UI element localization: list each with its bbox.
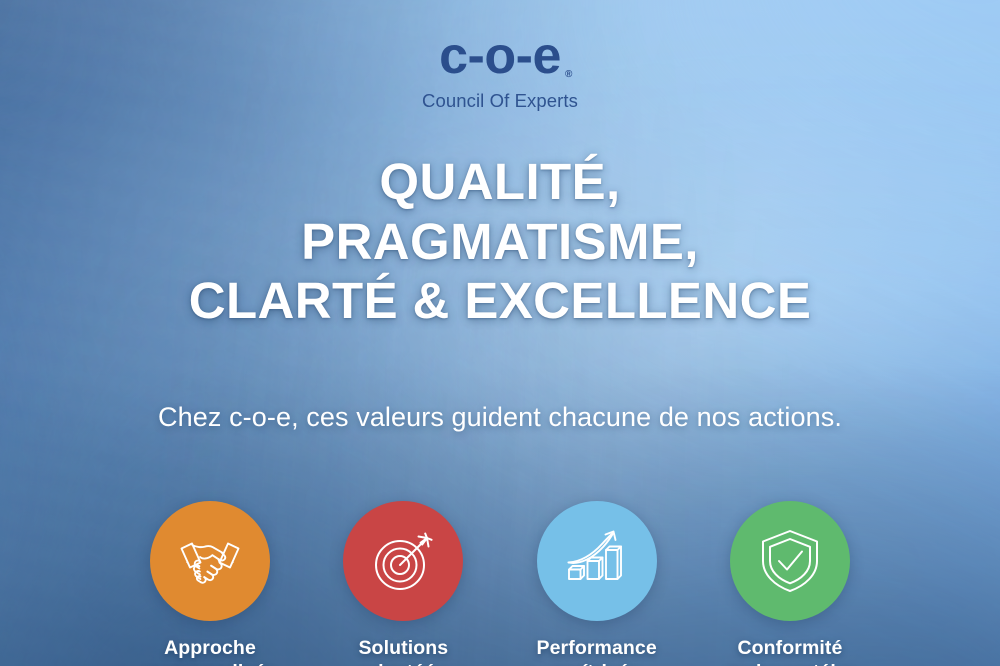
pillar-label-line-2: reglementáire [725, 661, 854, 666]
headline-line-1: QUALITÉ, [189, 152, 811, 212]
pillar-performance-maitrisee[interactable]: Performance maítrisée [507, 501, 687, 666]
pillar-label-line-2: personnalisée [144, 661, 276, 666]
shield-check-icon [755, 526, 825, 596]
slide-content: c-o-e ® Council Of Experts QUALITÉ, PRAG… [0, 0, 1000, 666]
pillar-label-line-1: Approche [144, 637, 276, 661]
pillar-approche-personnalisee[interactable]: Approche personnalisée [120, 501, 300, 666]
pillar-label-line-1: Solutions [358, 637, 448, 661]
pillar-icon-badge [537, 501, 657, 621]
pillar-label: Performance maítrisée [536, 637, 656, 666]
headline-line-3: CLARTÉ & EXCELLENCE [189, 271, 811, 331]
pillar-icon-badge [730, 501, 850, 621]
logo-tagline: Council Of Experts [422, 90, 578, 112]
pillar-label: Conformité reglementáire [725, 637, 854, 666]
page-title: QUALITÉ, PRAGMATISME, CLARTÉ & EXCELLENC… [189, 152, 811, 331]
pillar-icon-badge [150, 501, 270, 621]
value-pillars: Approche personnalisée [120, 501, 880, 666]
registered-trademark-icon: ® [565, 70, 572, 80]
pillar-solutions-adaptees[interactable]: Solutions adaptéés [313, 501, 493, 666]
brand-logo: c-o-e ® Council Of Experts [422, 30, 578, 112]
target-arrow-icon [367, 525, 439, 597]
pillar-label: Approche personnalisée [144, 637, 276, 666]
subtitle: Chez c-o-e, ces valeurs guident chacune … [158, 402, 842, 433]
pillar-label: Solutions adaptéés [358, 637, 448, 666]
growth-chart-icon [560, 524, 634, 598]
pillar-label-line-1: Performance [536, 637, 656, 661]
logo-wordmark-text: c-o-e [439, 27, 561, 85]
headline-line-2: PRAGMATISME, [189, 212, 811, 272]
pillar-conformite-reglementaire[interactable]: Conformité reglementáire [700, 501, 880, 666]
handshake-icon [173, 524, 247, 598]
pillar-label-line-2: maítrisée [536, 661, 656, 666]
pillar-label-line-2: adaptéés [358, 661, 448, 666]
pillar-label-line-1: Conformité [725, 637, 854, 661]
logo-wordmark: c-o-e ® [439, 30, 561, 82]
pillar-icon-badge [343, 501, 463, 621]
slide-canvas: c-o-e ® Council Of Experts QUALITÉ, PRAG… [0, 0, 1000, 666]
